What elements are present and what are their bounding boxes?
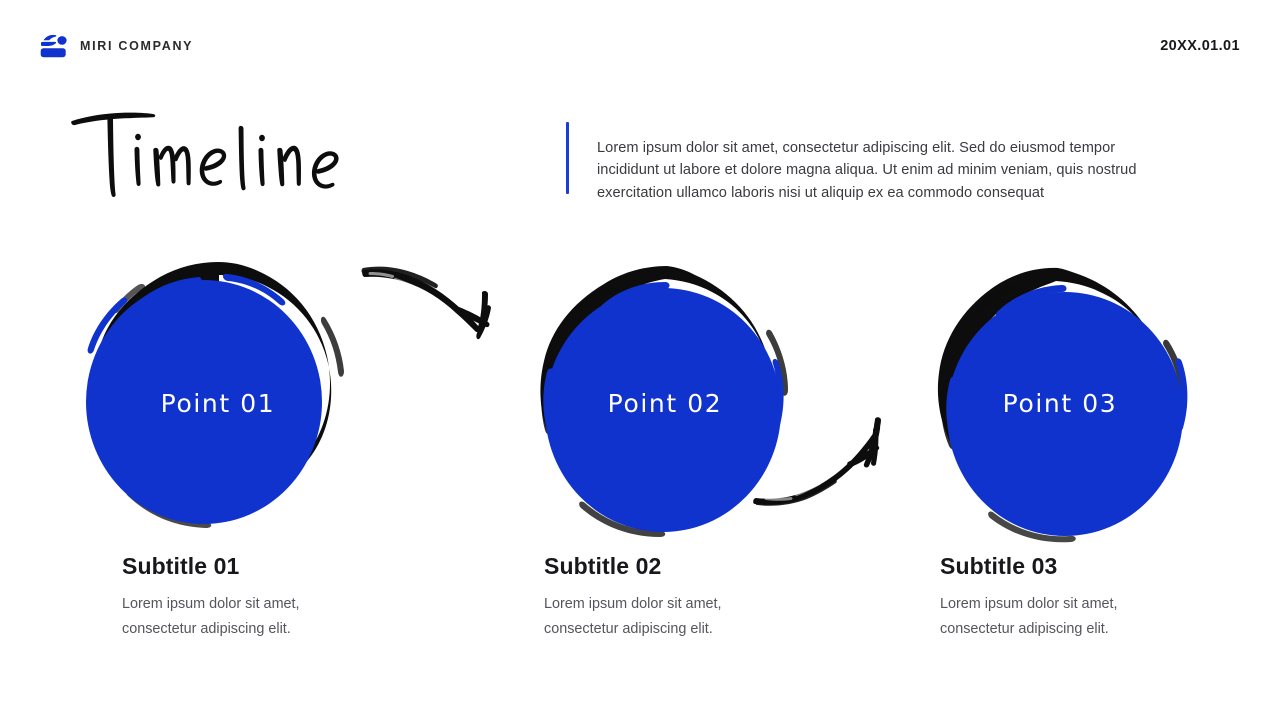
caption-body: Lorem ipsum dolor sit amet, consectetur …	[940, 592, 1190, 641]
caption-item-1: Subtitle 01 Lorem ipsum dolor sit amet, …	[122, 552, 452, 641]
intro-block: Lorem ipsum dolor sit amet, consectetur …	[566, 122, 1186, 219]
slide-canvas: MIRI COMPANY 20XX.01.01	[0, 0, 1280, 720]
brush-arrow-up-right-icon	[752, 418, 902, 510]
slide-header: MIRI COMPANY 20XX.01.01	[0, 0, 1280, 95]
caption-title: Subtitle 01	[122, 552, 452, 580]
caption-item-2: Subtitle 02 Lorem ipsum dolor sit amet, …	[544, 552, 874, 641]
caption-body: Lorem ipsum dolor sit amet, consectetur …	[122, 592, 372, 641]
slide-date: 20XX.01.01	[1160, 38, 1240, 54]
caption-title: Subtitle 03	[940, 552, 1270, 580]
caption-title: Subtitle 02	[544, 552, 874, 580]
timeline-nodes: Point 01	[0, 246, 1280, 546]
caption-item-3: Subtitle 03 Lorem ipsum dolor sit amet, …	[940, 552, 1270, 641]
brand-name: MIRI COMPANY	[80, 39, 193, 53]
timeline-node-1[interactable]: Point 01	[68, 254, 368, 554]
caption-row: Subtitle 01 Lorem ipsum dolor sit amet, …	[0, 552, 1280, 662]
miri-company-logo-icon	[40, 33, 68, 59]
timeline-node-2[interactable]: Point 02	[515, 260, 815, 560]
page-title	[66, 96, 486, 214]
brush-arrow-down-right-icon	[360, 258, 510, 350]
intro-paragraph: Lorem ipsum dolor sit amet, consectetur …	[597, 137, 1177, 205]
caption-body: Lorem ipsum dolor sit amet, consectetur …	[544, 592, 794, 641]
brand-lockup: MIRI COMPANY	[40, 33, 193, 59]
intro-accent-bar	[566, 122, 569, 194]
timeline-node-3[interactable]: Point 03	[910, 264, 1210, 564]
